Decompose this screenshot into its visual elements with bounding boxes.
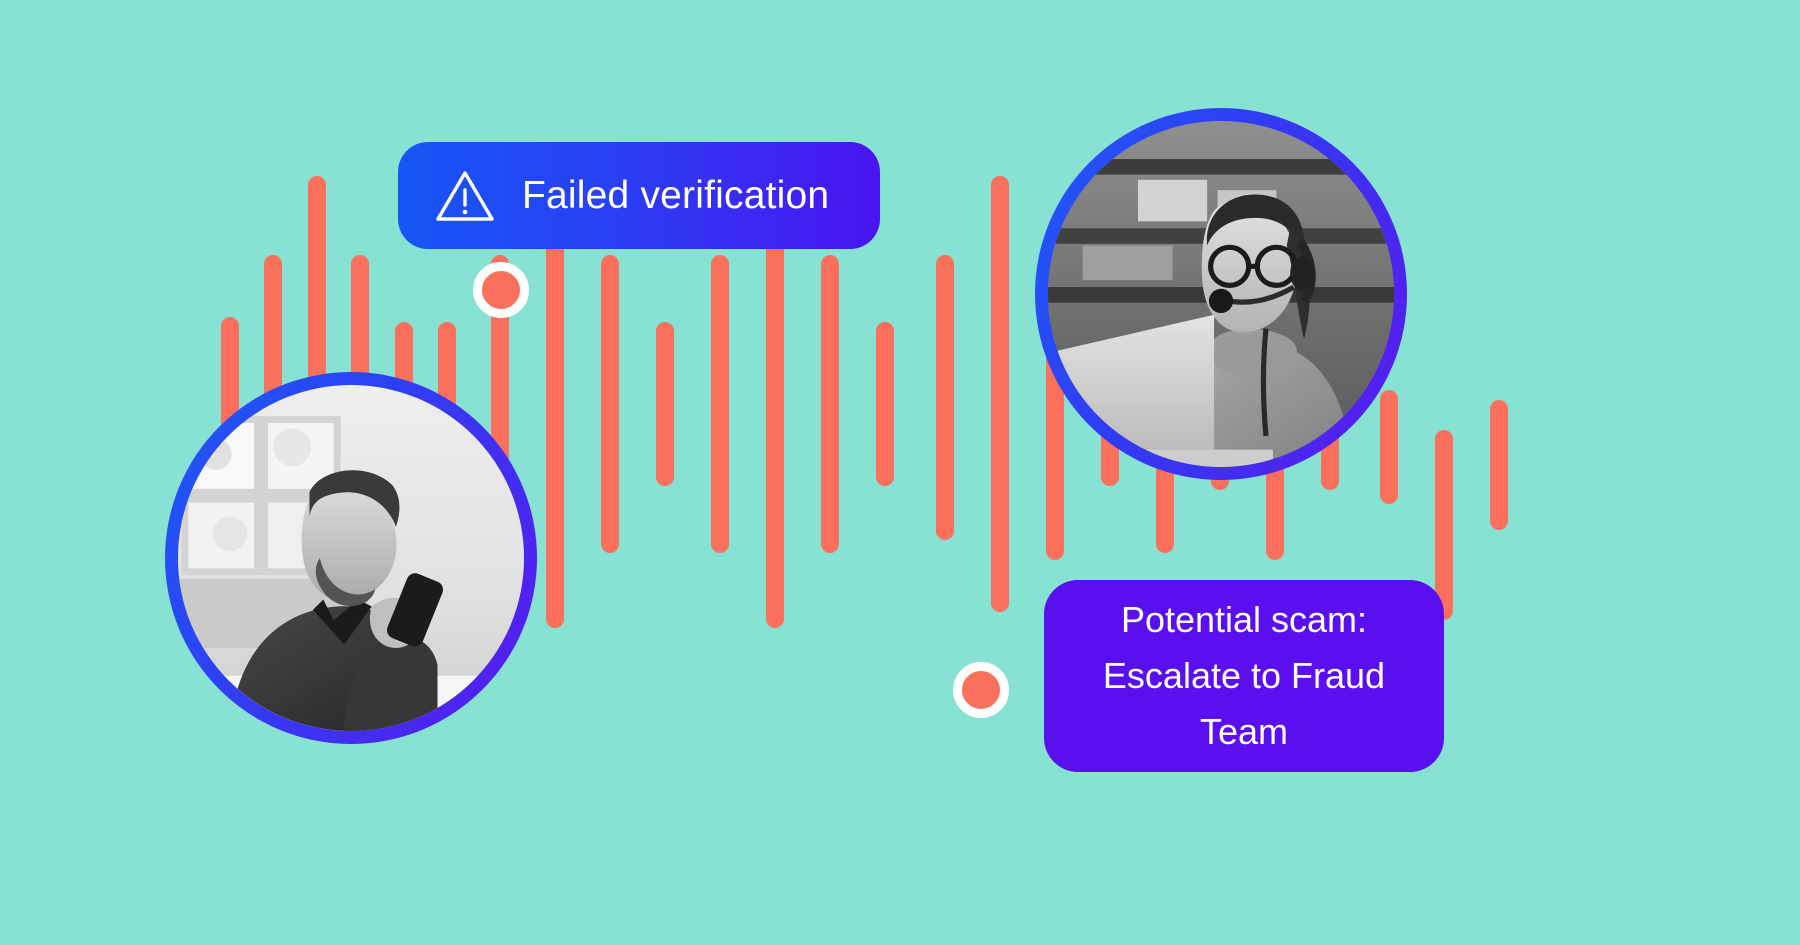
waveform-bar: [656, 322, 674, 486]
failed-verification-label: Failed verification: [522, 176, 829, 215]
caller-photo: [165, 372, 537, 744]
waveform-bar: [601, 255, 619, 553]
waveform-bar: [766, 190, 784, 628]
waveform-bar: [546, 218, 564, 628]
potential-scam-line-3: Team: [1200, 704, 1288, 760]
waveform-bar: [936, 255, 954, 540]
potential-scam-line-2: Escalate to Fraud: [1103, 648, 1385, 704]
waveform-bar: [711, 255, 729, 553]
waveform-bar: [876, 322, 894, 486]
waveform-bar: [821, 255, 839, 553]
failed-verification-badge[interactable]: Failed verification: [398, 142, 880, 249]
agent-photo-image: [1048, 121, 1394, 467]
potential-scam-line-1: Potential scam:: [1121, 592, 1367, 648]
illustration-canvas: Failed verification Potential scam: Esca…: [0, 0, 1800, 945]
potential-scam-badge[interactable]: Potential scam: Escalate to Fraud Team: [1044, 580, 1444, 772]
waveform-bar: [1435, 430, 1453, 620]
record-dot-lower-center: [953, 662, 1009, 718]
waveform-bar: [991, 176, 1009, 612]
warning-triangle-icon: [434, 168, 496, 224]
record-dot-upper-left: [473, 262, 529, 318]
waveform-bar: [1490, 400, 1508, 530]
caller-photo-image: [178, 385, 524, 731]
agent-photo: [1035, 108, 1407, 480]
